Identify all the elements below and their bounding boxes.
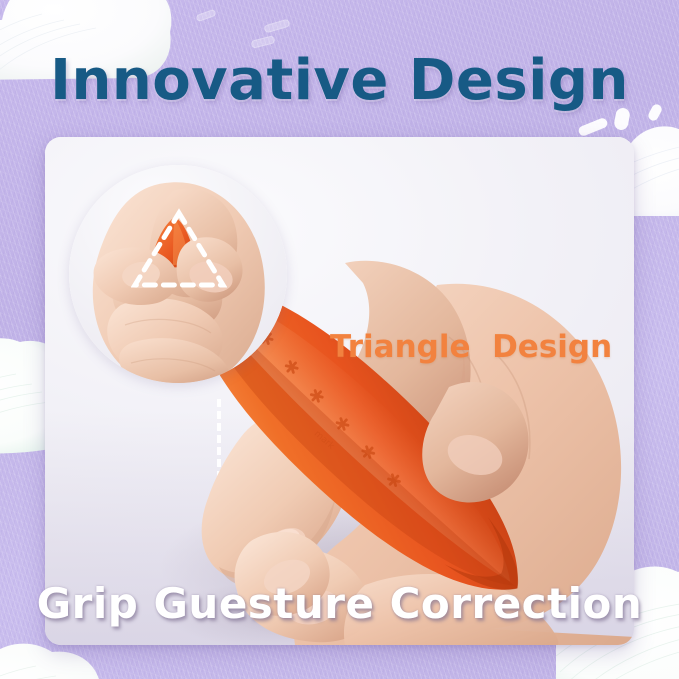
page-title: Innovative Design [0, 48, 679, 113]
product-photo-card: mark [45, 137, 634, 645]
grip-correction-caption: Grip Guesture Correction [0, 579, 679, 628]
product-banner: Innovative Design [0, 0, 679, 679]
dashed-triangle-highlight [131, 207, 227, 293]
triangle-design-label: Triangle Design [330, 329, 612, 365]
grip-closeup-magnifier [69, 165, 287, 383]
